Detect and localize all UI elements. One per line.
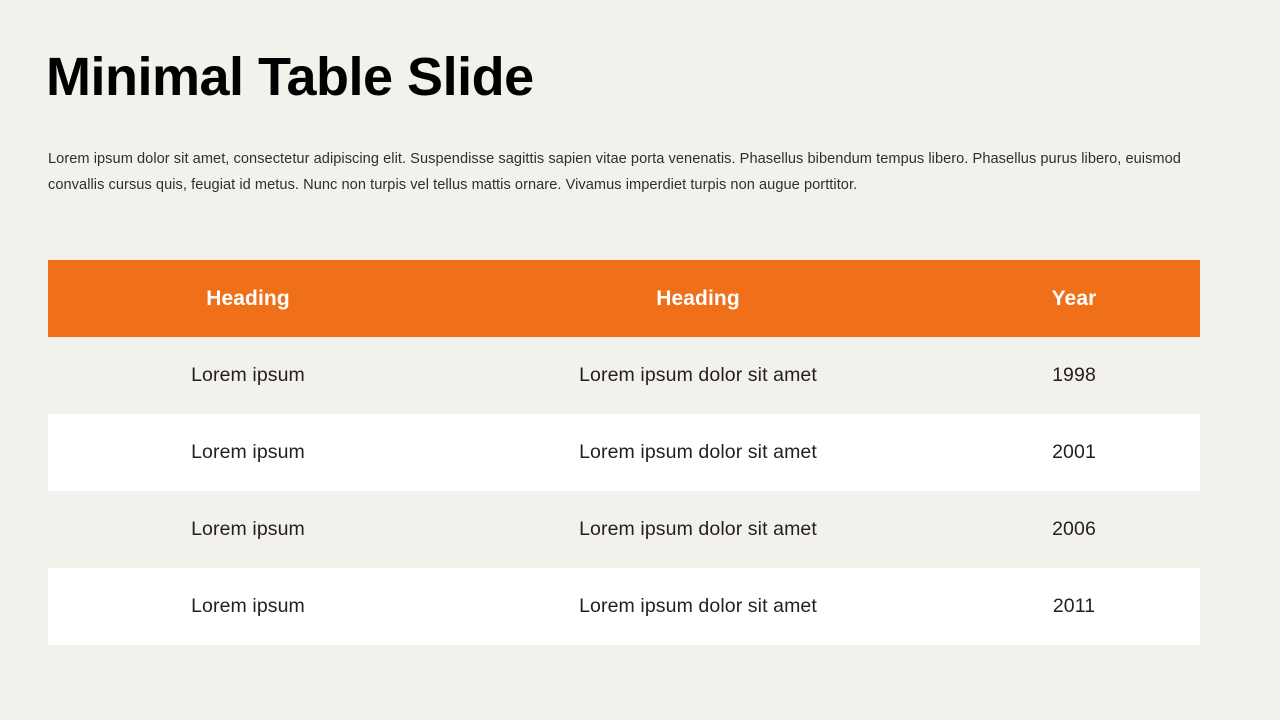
table-cell-year: 2011: [948, 568, 1200, 645]
table-cell-description: Lorem ipsum dolor sit amet: [448, 491, 948, 568]
column-header-1[interactable]: Heading: [48, 260, 448, 337]
page-title: Minimal Table Slide: [46, 46, 534, 108]
table-cell-name: Lorem ipsum: [48, 414, 448, 491]
table-header-row: Heading Heading Year: [48, 260, 1200, 337]
table-cell-name: Lorem ipsum: [48, 568, 448, 645]
slide-body-paragraph: Lorem ipsum dolor sit amet, consectetur …: [48, 146, 1194, 198]
column-header-3[interactable]: Year: [948, 260, 1200, 337]
table-cell-year: 2006: [948, 491, 1200, 568]
table-cell-name: Lorem ipsum: [48, 337, 448, 414]
table-header: Heading Heading Year: [48, 260, 1200, 337]
table-cell-year: 1998: [948, 337, 1200, 414]
table-row[interactable]: Lorem ipsum Lorem ipsum dolor sit amet 2…: [48, 491, 1200, 568]
table-container: Heading Heading Year Lorem ipsum Lorem i…: [48, 260, 1200, 645]
table-cell-description: Lorem ipsum dolor sit amet: [448, 337, 948, 414]
table-row[interactable]: Lorem ipsum Lorem ipsum dolor sit amet 2…: [48, 414, 1200, 491]
table-cell-year: 2001: [948, 414, 1200, 491]
table-cell-description: Lorem ipsum dolor sit amet: [448, 568, 948, 645]
table-cell-name: Lorem ipsum: [48, 491, 448, 568]
column-header-2[interactable]: Heading: [448, 260, 948, 337]
slide-canvas: Minimal Table Slide Lorem ipsum dolor si…: [0, 0, 1280, 720]
table-body: Lorem ipsum Lorem ipsum dolor sit amet 1…: [48, 337, 1200, 645]
table-cell-description: Lorem ipsum dolor sit amet: [448, 414, 948, 491]
table-row[interactable]: Lorem ipsum Lorem ipsum dolor sit amet 2…: [48, 568, 1200, 645]
table-row[interactable]: Lorem ipsum Lorem ipsum dolor sit amet 1…: [48, 337, 1200, 414]
data-table: Heading Heading Year Lorem ipsum Lorem i…: [48, 260, 1200, 645]
